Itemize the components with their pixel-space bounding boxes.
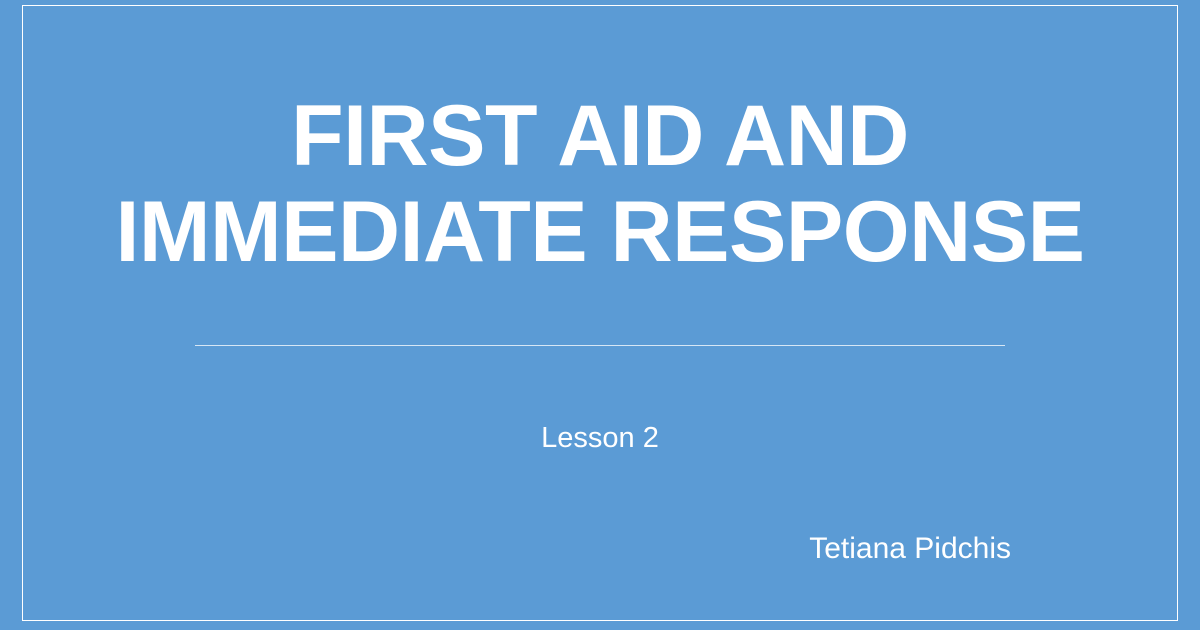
slide-title: FIRST AID AND IMMEDIATE RESPONSE xyxy=(0,88,1200,280)
title-slide: FIRST AID AND IMMEDIATE RESPONSE Lesson … xyxy=(0,0,1200,630)
title-divider-rule xyxy=(195,345,1005,346)
title-line-1: FIRST AID AND xyxy=(0,88,1200,184)
title-line-2: IMMEDIATE RESPONSE xyxy=(0,184,1200,280)
slide-author: Tetiana Pidchis xyxy=(0,530,1011,568)
slide-subtitle: Lesson 2 xyxy=(0,420,1200,456)
